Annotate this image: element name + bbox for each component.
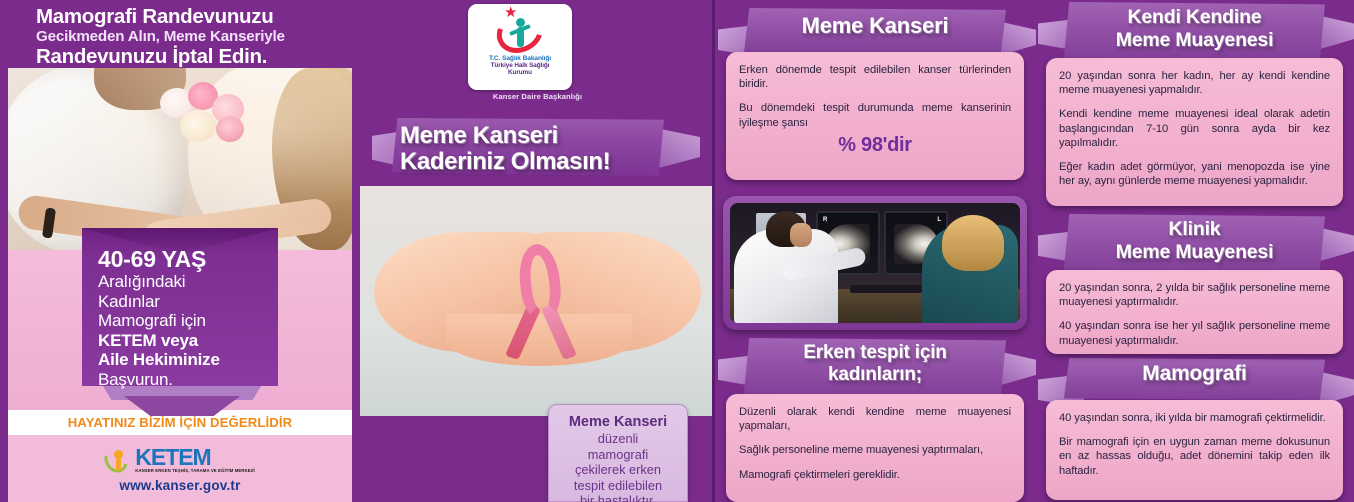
- callout-line-2: Aralığındaki: [98, 272, 278, 292]
- couple-with-flowers-photo: [8, 68, 352, 250]
- note-line-3: çekilerek erken: [559, 462, 677, 478]
- card-mammography-p2: Bir mamografi için en uygun zaman meme d…: [1059, 435, 1330, 478]
- center-note-card: Meme Kanseri düzenli mamografi çekilerek…: [548, 404, 688, 502]
- ketem-footer: KETEM KANSER ERKEN TEŞHİS, TARAMA VE EĞİ…: [8, 435, 352, 502]
- card-early-detection-p3: Mamografi çektirmeleri gereklidir.: [739, 468, 1011, 482]
- ministry-line-3: Kurumu: [508, 69, 532, 76]
- age-range-callout: 40-69 YAŞ Aralığındaki Kadınlar Mamograf…: [82, 228, 278, 386]
- card-mammography-p1: 40 yaşından sonra, iki yılda bir mamogra…: [1059, 411, 1330, 425]
- card-breast-cancer-stat: % 98'dir: [739, 138, 1011, 152]
- card-clinical-exam-title-1: Klinik: [1064, 218, 1325, 241]
- center-banner: Meme Kanseri Kaderiniz Olmasın!: [378, 118, 678, 180]
- note-title: Meme Kanseri: [559, 414, 677, 431]
- ministry-line-2: Türkiye Halk Sağlığı: [491, 62, 550, 69]
- pink-ribbon-icon: [510, 244, 572, 362]
- logo-caption: Kanser Daire Başkanlığı: [360, 92, 715, 101]
- banner-line-1: Meme Kanseri: [400, 123, 678, 149]
- ketem-subtitle: KANSER ERKEN TEŞHİS, TARAMA VE EĞİTİM ME…: [135, 468, 255, 474]
- brochure-poster: Mamografi Randevunuzu Gecikmeden Alın, M…: [0, 0, 1354, 502]
- card-breast-cancer-p2: Bu dönemdeki tespit durumunda meme kanse…: [739, 101, 1011, 129]
- callout-line-3: Kadınlar: [98, 292, 278, 312]
- note-line-2: mamografi: [559, 447, 677, 463]
- card-self-exam-p1: 20 yaşından sonra her kadın, her ay kend…: [1059, 69, 1330, 97]
- card-mammography-title: Mamografi: [1064, 362, 1325, 386]
- card-breast-cancer-title: Meme Kanseri: [744, 14, 1006, 38]
- ketem-figure-icon: [105, 445, 131, 475]
- card-clinical-exam-title-2: Meme Muayenesi: [1064, 241, 1325, 264]
- card-early-detection-p2: Sağlık personeline meme muayenesi yaptır…: [739, 443, 1011, 457]
- card-self-exam-title-2: Meme Muayenesi: [1064, 29, 1325, 52]
- headline-line-1: Mamografi Randevunuzu: [36, 6, 350, 28]
- note-line-4: tespit edilebilen: [559, 478, 677, 494]
- card-early-detection-p1: Düzenli olarak kendi kendine meme muayen…: [739, 405, 1011, 433]
- callout-line-6: Aile Hekiminize: [98, 350, 278, 370]
- banner-line-2: Kaderiniz Olmasın!: [400, 149, 678, 175]
- hands-holding-pink-ribbon-photo: [360, 186, 715, 416]
- ministry-line-1: T.C. Sağlık Bakanlığı: [489, 55, 551, 62]
- note-line-5: bir hastalıktır.: [559, 493, 677, 502]
- callout-line-7: Başvurun.: [98, 370, 278, 390]
- left-brochure-panel: Mamografi Randevunuzu Gecikmeden Alın, M…: [0, 0, 360, 502]
- headline-line-3: Randevunuzu İptal Edin.: [36, 45, 350, 68]
- callout-line-1: 40-69 YAŞ: [98, 246, 278, 272]
- card-self-exam-p2: Kendi kendine meme muayenesi ideal olara…: [1059, 107, 1330, 150]
- card-clinical-exam-p2: 40 yaşından sonra ise her yıl sağlık per…: [1059, 319, 1330, 347]
- card-early-detection-title-1: Erken tespit için: [744, 342, 1006, 364]
- card-clinical-exam-p1: 20 yaşından sonra, 2 yılda bir sağlık pe…: [1059, 281, 1330, 309]
- left-headline-block: Mamografi Randevunuzu Gecikmeden Alın, M…: [0, 0, 360, 68]
- ketem-website-url[interactable]: www.kanser.gov.tr: [119, 478, 240, 493]
- fourth-column-panel: Kendi Kendine Meme Muayenesi 20 yaşından…: [1035, 0, 1354, 502]
- ketem-wordmark: KETEM: [135, 446, 255, 468]
- crescent-star-figure-icon: ★: [490, 10, 550, 54]
- card-self-exam-title-1: Kendi Kendine: [1064, 6, 1325, 29]
- callout-line-4: Mamografi için: [98, 311, 278, 331]
- doctor-showing-mammogram-screens-photo: R L: [723, 196, 1027, 330]
- note-line-1: düzenli: [559, 431, 677, 447]
- card-self-exam-p3: Eğer kadın adet görmüyor, yani menopozda…: [1059, 160, 1330, 188]
- card-breast-cancer-p1: Erken dönemde tespit edilebilen kanser t…: [739, 63, 1011, 91]
- callout-line-5: KETEM veya: [98, 331, 278, 351]
- headline-line-2: Gecikmeden Alın, Meme Kanseriyle: [36, 28, 350, 45]
- center-panel: ★ T.C. Sağlık Bakanlığı Türkiye Halk Sağ…: [360, 0, 715, 502]
- card-early-detection-title-2: kadınların;: [744, 364, 1006, 386]
- ministry-of-health-logo: ★ T.C. Sağlık Bakanlığı Türkiye Halk Sağ…: [468, 4, 572, 90]
